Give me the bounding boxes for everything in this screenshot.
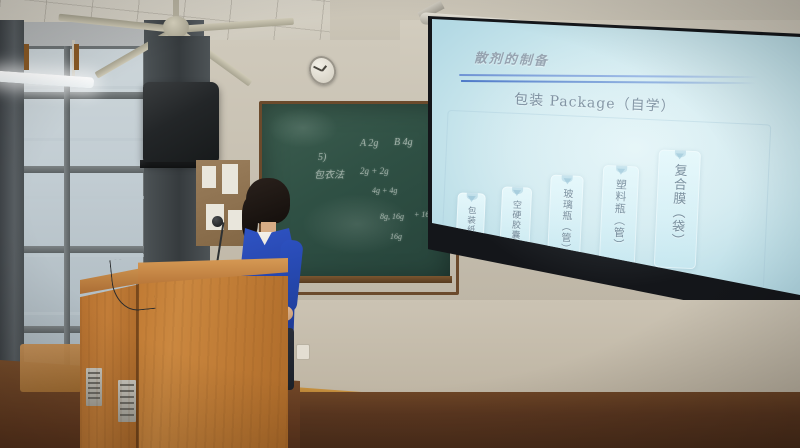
wall-monitor: [143, 82, 219, 162]
package-box: 复合膜（袋）: [654, 149, 701, 269]
clock-hour-hand: [321, 65, 327, 72]
clock-minute-hand: [313, 66, 322, 72]
window-frame-bar: [4, 246, 146, 253]
podium: [80, 258, 288, 448]
package-box-label: 玻璃瓶（管）: [556, 188, 574, 255]
slide-title: 散剂的制备: [474, 47, 550, 69]
vent-grille: [118, 380, 136, 422]
ceiling-fan-motor: [163, 16, 189, 38]
slide-title-rule: [459, 74, 759, 78]
window-frame-bar: [4, 166, 146, 173]
vent-grille: [86, 368, 102, 406]
slide-title-rule: [461, 80, 756, 84]
projection-screen: 散剂的制备 包装 Package（自学） 包装纸盒 空硬胶囊: [418, 8, 800, 328]
podium-front-panel: [138, 276, 288, 448]
chair-leg: [74, 44, 79, 70]
window-mullion: [64, 46, 70, 376]
hair: [246, 178, 290, 224]
chair-leg: [24, 44, 29, 70]
package-box-label: 空硬胶囊: [508, 200, 523, 241]
chair: [20, 344, 82, 392]
microphone-icon: [212, 216, 223, 227]
package-box-label: 塑料瓶（管）: [609, 178, 628, 251]
package-box: 塑料瓶（管）: [599, 165, 639, 267]
slide-heading: 包装 Package（自学）: [514, 89, 676, 116]
package-box-label: 复合膜（袋）: [666, 163, 689, 248]
classroom-scene: 5) 包衣法 A 2g B 4g 2g + 2g 4g + 4g 8g, 16g…: [0, 0, 800, 448]
window-frame-bar: [4, 92, 146, 99]
